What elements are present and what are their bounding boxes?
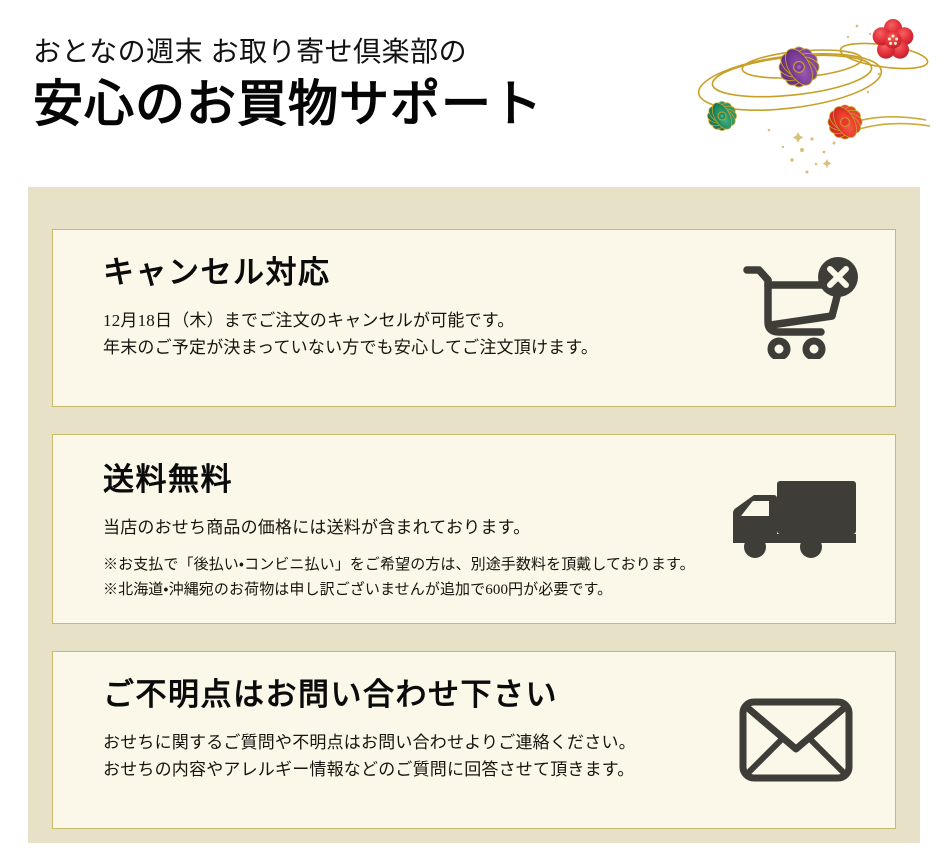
header-subtitle: おとなの週末 お取り寄せ倶楽部の <box>33 36 543 69</box>
card-shipping: 送料無料 当店のおせち商品の価格には送料が含まれております。 ※お支払で「後払い… <box>52 434 896 624</box>
green-chrysanthemum-icon <box>706 100 739 133</box>
header-text-block: おとなの週末 お取り寄せ倶楽部の 安心のお買物サポート <box>33 36 543 134</box>
card-shipping-line-1: 当店のおせち商品の価格には送料が含まれております。 <box>103 514 867 542</box>
card-shipping-note-2: ※北海道・沖縄宛のお荷物は申し訳ございませんが追加で600円が必要です。 <box>103 578 867 602</box>
card-contact-line-2: おせちの内容やアレルギー情報などのご質問に回答させて頂きます。 <box>103 756 867 784</box>
card-cancel-title: キャンセル対応 <box>103 254 867 293</box>
sparkle-icon <box>768 25 881 174</box>
card-contact-content: ご不明点はお問い合わせ下さい おせちに関するご質問や不明点はお問い合わせよりご連… <box>53 652 895 808</box>
support-panel: キャンセル対応 12月18日（木）までご注文のキャンセルが可能です。 年末のご予… <box>28 187 920 843</box>
support-card-list: キャンセル対応 12月18日（木）までご注文のキャンセルが可能です。 年末のご予… <box>52 229 896 856</box>
japanese-floral-decoration-icon <box>652 4 942 184</box>
card-shipping-notes: ※お支払で「後払い・コンビニ払い」をご希望の方は、別途手数料を頂戴しております。… <box>103 553 867 602</box>
card-cancel-line-2: 年末のご予定が決まっていない方でも安心してご注文頂けます。 <box>103 334 867 362</box>
card-cancel-content: キャンセル対応 12月18日（木）までご注文のキャンセルが可能です。 年末のご予… <box>53 230 895 386</box>
card-cancel-line-1: 12月18日（木）までご注文のキャンセルが可能です。 <box>103 307 867 335</box>
card-shipping-note-1: ※お支払で「後払い・コンビニ払い」をご希望の方は、別途手数料を頂戴しております。 <box>103 553 867 577</box>
card-shipping-content: 送料無料 当店のおせち商品の価格には送料が含まれております。 ※お支払で「後払い… <box>53 435 895 626</box>
card-contact-title: ご不明点はお問い合わせ下さい <box>103 676 867 715</box>
purple-chrysanthemum-icon <box>776 44 821 89</box>
red-chrysanthemum-icon <box>826 103 864 141</box>
card-contact: ご不明点はお問い合わせ下さい おせちに関するご質問や不明点はお問い合わせよりご連… <box>52 651 896 829</box>
page-title: 安心のお買物サポート <box>33 75 543 134</box>
red-plum-blossom-icon <box>873 19 914 59</box>
page-header: おとなの週末 お取り寄せ倶楽部の 安心のお買物サポート <box>0 0 950 187</box>
card-cancel: キャンセル対応 12月18日（木）までご注文のキャンセルが可能です。 年末のご予… <box>52 229 896 407</box>
gold-ribbon-icon <box>696 39 930 132</box>
card-contact-line-1: おせちに関するご質問や不明点はお問い合わせよりご連絡ください。 <box>103 729 867 757</box>
card-shipping-title: 送料無料 <box>103 461 867 500</box>
